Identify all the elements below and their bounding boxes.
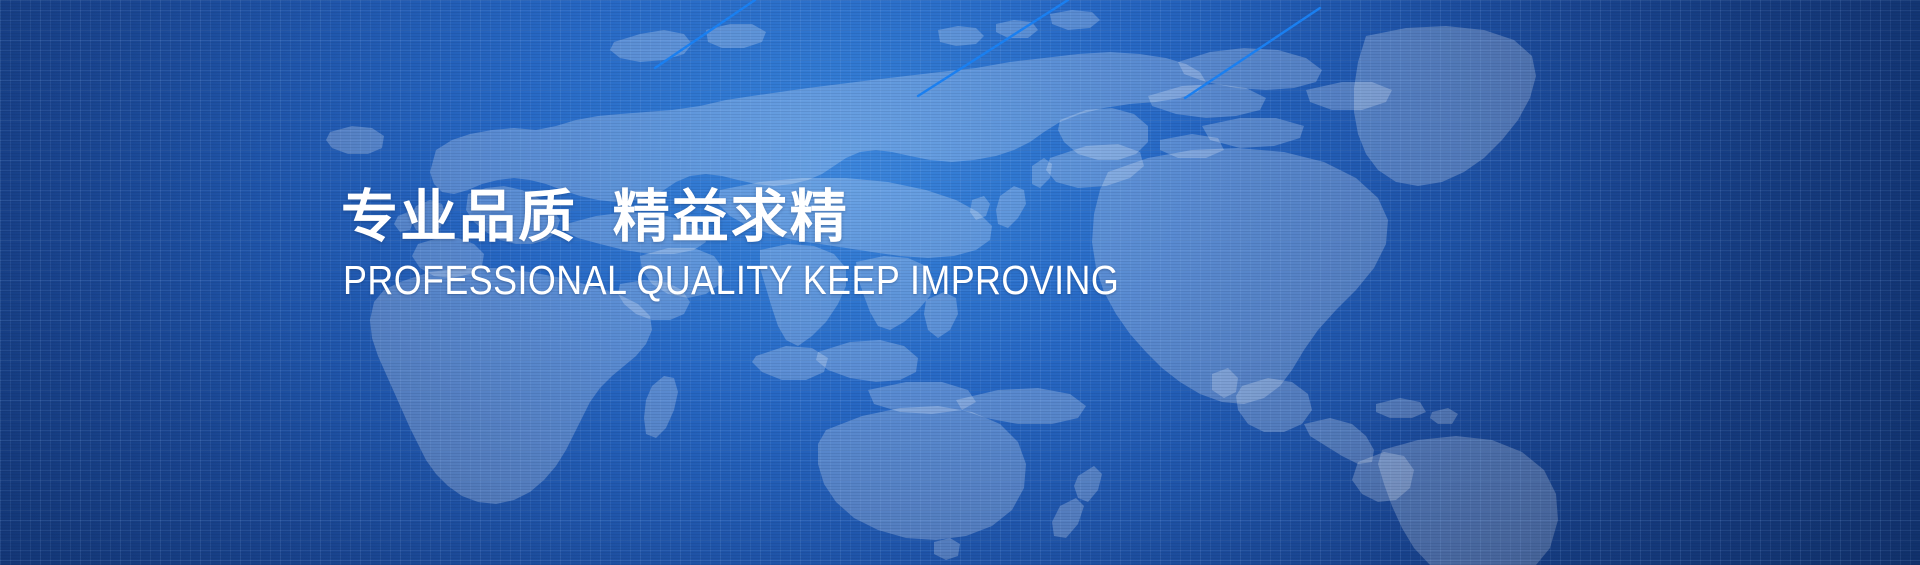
hero-banner: 专业品质 精益求精 PROFESSIONAL QUALITY KEEP IMPR… xyxy=(0,0,1920,565)
headline-chinese: 专业品质 精益求精 xyxy=(341,188,1441,246)
subheadline-english: PROFESSIONAL QUALITY KEEP IMPROVING xyxy=(343,260,1304,301)
slogan-text-block: 专业品质 精益求精 PROFESSIONAL QUALITY KEEP IMPR… xyxy=(341,188,1441,301)
